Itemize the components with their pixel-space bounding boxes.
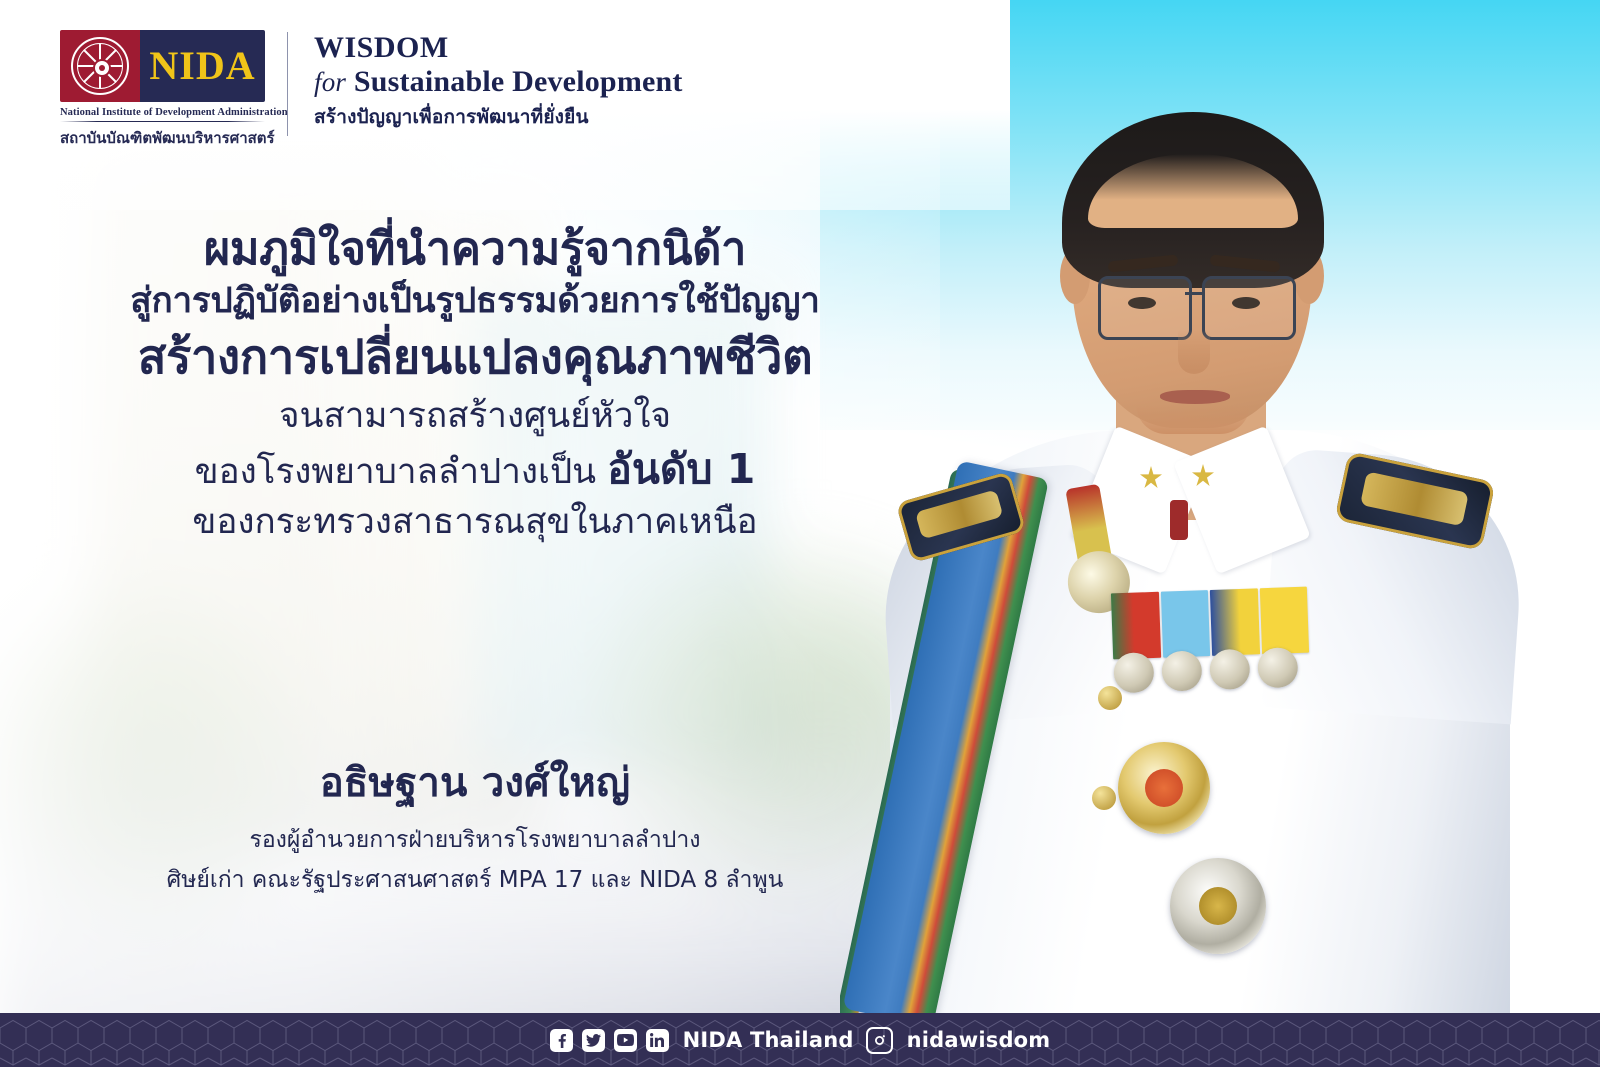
breast-star-silver: [1170, 858, 1266, 954]
quote-line-3: สร้างการเปลี่ยนแปลงคุณภาพชีวิต: [0, 330, 950, 385]
ribbon: [1160, 590, 1210, 658]
necktie: [1170, 500, 1188, 540]
tagline-sustainable-line: for Sustainable Development: [314, 65, 683, 99]
quote-line-6: ของกระทรวงสาธารณสุขในภาคเหนือ: [0, 502, 950, 543]
quote-rank-emphasis: อันดับ 1: [607, 445, 755, 493]
eyeglasses-lens-right: [1202, 276, 1296, 340]
quote-line-1: ผมภูมิใจที่นำความรู้จากนิด้า: [0, 222, 950, 275]
nida-wordmark: NIDA: [149, 46, 255, 86]
quote-line-5-prefix: ของโรงพยาบาลลำปางเป็น: [195, 452, 596, 492]
footer-social-row: NIDA Thailand nidawisdom: [0, 1013, 1600, 1067]
social-handle-main: NIDA Thailand: [683, 1028, 854, 1052]
tagline-sustainable-development: Sustainable Development: [354, 65, 683, 98]
attribution-block: อธิษฐาน วงศ์ใหญ่ รองผู้อำนวยการฝ่ายบริหา…: [0, 750, 950, 898]
quote-line-4: จนสามารถสร้างศูนย์หัวใจ: [0, 396, 950, 437]
nida-logo-badge: NIDA: [60, 30, 265, 102]
medal: [1209, 649, 1250, 690]
header-vertical-divider: [287, 32, 288, 136]
eyeglasses-bridge: [1185, 292, 1205, 295]
medal-cluster: [1113, 647, 1311, 706]
mouth: [1160, 390, 1230, 404]
uniform-button: [1092, 786, 1116, 810]
footer-bar: NIDA Thailand nidawisdom: [0, 1013, 1600, 1067]
twitter-icon[interactable]: [582, 1029, 605, 1052]
instagram-icon[interactable]: [866, 1027, 893, 1054]
quote-line-2: สู่การปฏิบัติอย่างเป็นรูปธรรมด้วยการใช้ป…: [0, 281, 950, 322]
nida-logo[interactable]: NIDA National Institute of Development A…: [60, 30, 265, 150]
nida-seal-panel: [60, 30, 140, 102]
quote-line-5: ของโรงพยาบาลลำปางเป็น อันดับ 1: [0, 445, 950, 493]
tagline-thai: สร้างปัญญาเพื่อการพัฒนาที่ยั่งยืน: [314, 102, 683, 132]
youtube-icon[interactable]: [614, 1029, 637, 1052]
quote-block: ผมภูมิใจที่นำความรู้จากนิด้า สู่การปฏิบั…: [0, 222, 950, 543]
facebook-icon[interactable]: [550, 1029, 573, 1052]
uniform-button: [1098, 686, 1122, 710]
ribbon: [1259, 587, 1309, 655]
nida-english-name: National Institute of Development Admini…: [60, 107, 265, 118]
nida-thai-name: สถาบันบัณฑิตพัฒนบริหารศาสตร์: [60, 126, 265, 150]
ribbon: [1111, 592, 1161, 660]
nida-seal-icon: [71, 37, 129, 95]
medal: [1113, 652, 1154, 693]
brand-header: NIDA National Institute of Development A…: [60, 30, 683, 150]
nida-wordmark-panel: NIDA: [140, 30, 265, 102]
wisdom-tagline: WISDOM for Sustainable Development สร้าง…: [314, 30, 683, 132]
social-handle-instagram: nidawisdom: [907, 1028, 1051, 1052]
breast-star-gold: [1118, 742, 1210, 834]
logo-divider-rule: [60, 121, 265, 122]
hair: [1062, 112, 1324, 288]
speaker-role: รองผู้อำนวยการฝ่ายบริหารโรงพยาบาลลำปาง: [0, 822, 950, 858]
nose: [1178, 330, 1210, 374]
speaker-alumni-info: ศิษย์เก่า คณะรัฐประศาสนศาสตร์ MPA 17 และ…: [0, 862, 950, 898]
ribbon: [1210, 588, 1260, 656]
speaker-name: อธิษฐาน วงศ์ใหญ่: [0, 750, 950, 814]
tagline-wisdom: WISDOM: [314, 32, 683, 64]
portrait-photo: [840, 0, 1600, 1013]
medal: [1257, 647, 1298, 688]
chin: [1136, 404, 1250, 434]
poster-canvas: NIDA National Institute of Development A…: [0, 0, 1600, 1067]
medal: [1161, 650, 1202, 691]
tagline-for: for: [314, 67, 346, 97]
linkedin-icon[interactable]: [646, 1029, 669, 1052]
